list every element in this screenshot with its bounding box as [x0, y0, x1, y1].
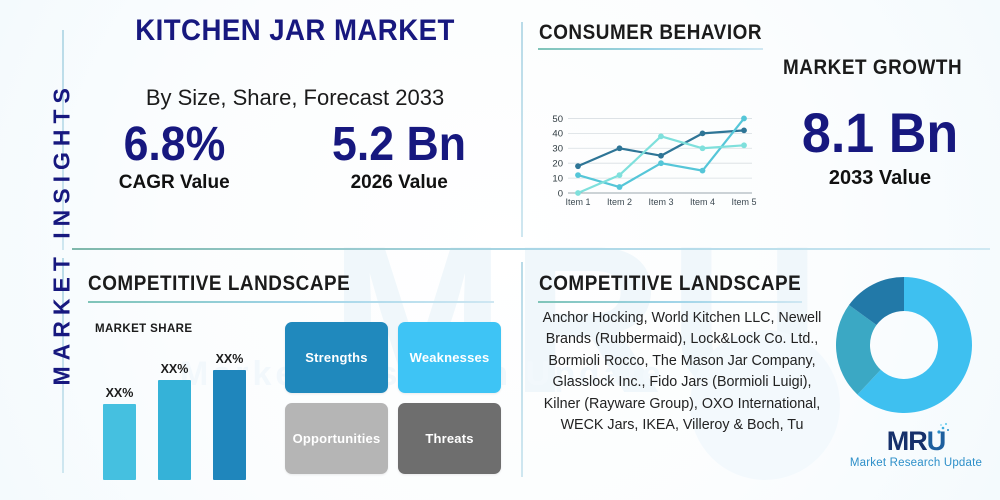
swot-grid: StrengthsWeaknessesOpportunitiesThreats	[285, 322, 501, 474]
section-heading-competitive-landscape-left: COMPETITIVE LANDSCAPE	[88, 272, 350, 296]
market-share-bars: XX%XX%XX%	[103, 352, 246, 480]
market-share-bar	[158, 380, 191, 480]
sidebar-title: MARKET INSIGHTS	[49, 86, 76, 386]
svg-text:Item 5: Item 5	[731, 197, 756, 207]
svg-text:Item 3: Item 3	[648, 197, 673, 207]
svg-text:40: 40	[552, 129, 563, 140]
logo-wordmark: MRU	[887, 428, 946, 455]
market-share-bar	[213, 370, 246, 480]
market-share-chart: MARKET SHARE XX%XX%XX%	[95, 325, 280, 480]
kpi-2033: 8.1 Bn 2033 Value	[770, 105, 990, 190]
donut-svg	[836, 277, 972, 413]
section-rule-competitive-left	[88, 301, 494, 303]
market-share-bar-label: XX%	[106, 386, 134, 400]
divider-vertical-center-bottom	[521, 262, 523, 477]
svg-text:0: 0	[558, 188, 563, 199]
swot-cell-weaknesses[interactable]: Weaknesses	[398, 322, 501, 393]
consumer-behavior-line-chart: 01020304050 Item 1Item 2Item 3Item 4Item…	[540, 95, 760, 215]
swot-cell-opportunities[interactable]: Opportunities	[285, 403, 388, 474]
market-share-bar-group: XX%	[213, 352, 246, 480]
section-heading-competitive-landscape-right: COMPETITIVE LANDSCAPE	[539, 272, 801, 296]
svg-text:50: 50	[552, 114, 563, 125]
svg-text:20: 20	[552, 158, 563, 169]
company-list: Anchor Hocking, World Kitchen LLC, Newel…	[538, 308, 826, 437]
brand-logo: MRU Market Research Update	[846, 428, 986, 469]
kpi-2026: 5.2 Bn 2026 Value	[327, 120, 471, 194]
swot-cell-threats[interactable]: Threats	[398, 403, 501, 474]
section-heading-consumer-behavior: CONSUMER BEHAVIOR	[539, 21, 762, 45]
logo-tagline: Market Research Update	[846, 457, 986, 469]
page-title: KITCHEN JAR MARKET	[88, 14, 502, 48]
svg-text:30: 30	[552, 144, 563, 155]
line-chart-svg: 01020304050 Item 1Item 2Item 3Item 4Item…	[540, 95, 760, 215]
section-rule-consumer-behavior	[538, 48, 763, 50]
divider-vertical-center-top	[521, 22, 523, 237]
market-share-bar	[103, 404, 136, 480]
donut-segments	[836, 277, 972, 413]
kpi-2033-value: 8.1 Bn	[778, 105, 983, 161]
infographic-canvas: MRU Market Research Update MARKET INSIGH…	[0, 0, 1000, 500]
chart-series	[575, 116, 747, 196]
chart-x-tick-labels: Item 1Item 2Item 3Item 4Item 5	[565, 197, 756, 207]
kpi-cagr: 6.8% CAGR Value	[119, 120, 230, 194]
swot-cell-strengths[interactable]: Strengths	[285, 322, 388, 393]
svg-text:Item 4: Item 4	[690, 197, 715, 207]
sparkle-dots-icon	[935, 421, 951, 437]
market-share-bar-label: XX%	[161, 362, 189, 376]
market-share-bar-label: XX%	[216, 352, 244, 366]
divider-horizontal	[72, 248, 990, 250]
market-share-title: MARKET SHARE	[95, 323, 192, 335]
page-subtitle: By Size, Share, Forecast 2033	[70, 85, 520, 111]
kpi-2026-label: 2026 Value	[327, 172, 471, 194]
svg-text:Item 1: Item 1	[565, 197, 590, 207]
section-heading-market-growth: MARKET GROWTH	[783, 56, 962, 80]
market-share-bar-group: XX%	[103, 352, 136, 480]
market-share-donut-chart	[836, 277, 972, 418]
svg-text:10: 10	[552, 173, 563, 184]
logo-mark-mr: MR	[887, 426, 927, 456]
chart-y-tick-labels: 01020304050	[552, 114, 563, 200]
section-rule-competitive-right	[538, 301, 802, 303]
kpi-cagr-label: CAGR Value	[119, 172, 230, 194]
kpi-2026-value: 5.2 Bn	[332, 120, 466, 170]
svg-text:Item 2: Item 2	[607, 197, 632, 207]
market-share-bar-group: XX%	[158, 352, 191, 480]
kpi-cagr-value: 6.8%	[123, 120, 226, 170]
kpi-2033-label: 2033 Value	[770, 167, 990, 190]
kpi-row: 6.8% CAGR Value 5.2 Bn 2026 Value	[70, 120, 520, 194]
